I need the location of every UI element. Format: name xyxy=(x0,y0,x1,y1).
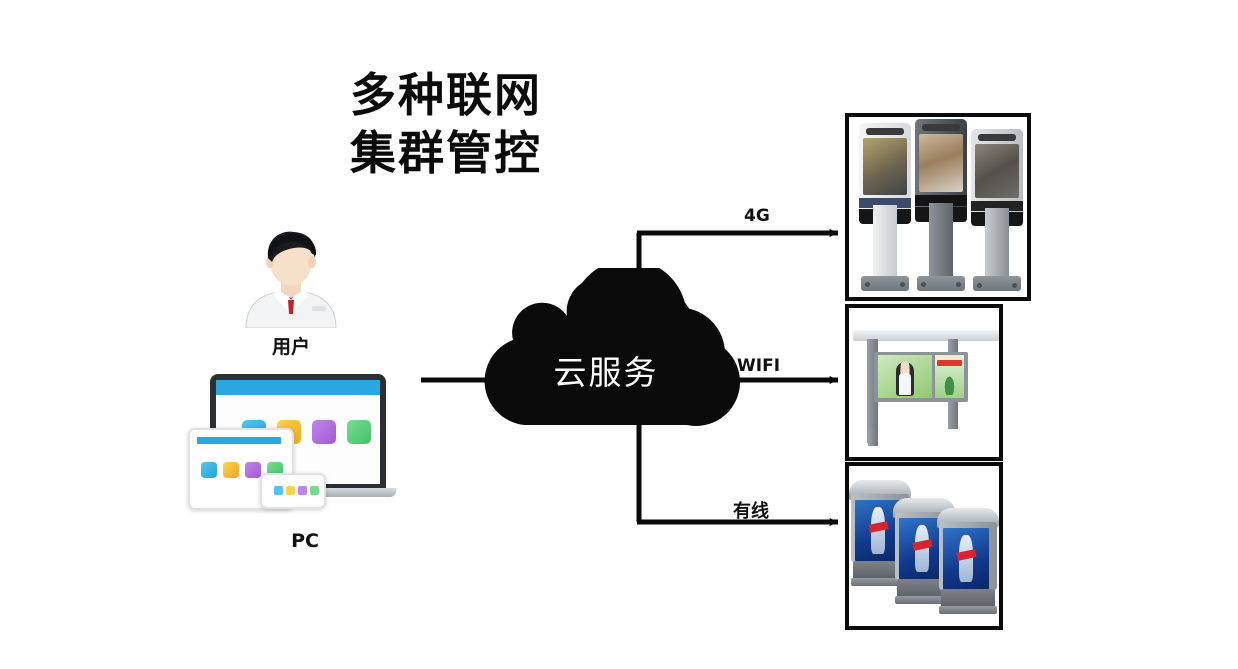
poster-headline xyxy=(937,360,962,366)
tablet-titlebar xyxy=(197,437,281,444)
app-icon-purple-phone xyxy=(298,486,307,495)
terminals-art xyxy=(849,117,1027,297)
lightbox-right-plinth xyxy=(941,589,994,607)
billboard-leg xyxy=(868,428,878,446)
terminal-grey-screen xyxy=(975,144,1019,198)
app-icon-yellow-phone xyxy=(286,486,295,495)
terminal-grey-camera xyxy=(978,134,1015,141)
laptop-titlebar xyxy=(216,380,380,395)
app-icon-yellow-tablet xyxy=(223,462,239,478)
link-label-4g: 4G xyxy=(744,206,770,226)
terminal-dark-base xyxy=(917,276,965,291)
link-label-wired: 有线 xyxy=(733,497,769,523)
device-group-terminals xyxy=(845,113,1031,301)
terminal-white-camera xyxy=(866,128,903,135)
user-label: 用户 xyxy=(228,332,354,359)
laptop-tablet-phone-icon xyxy=(178,372,432,522)
app-icon-green xyxy=(347,420,371,444)
phone-device xyxy=(260,473,326,509)
terminal-dark-pole xyxy=(929,203,954,275)
app-icon-blue-phone xyxy=(274,486,283,495)
billboard-poster xyxy=(935,355,964,398)
terminal-dark xyxy=(915,119,967,291)
user-node: 用户 xyxy=(228,228,354,359)
device-group-billboard xyxy=(845,304,1003,461)
avatar xyxy=(228,228,354,328)
terminal-dark-screen xyxy=(919,134,963,192)
user-avatar-icon xyxy=(228,228,354,328)
cloud-icon xyxy=(470,268,742,450)
lightbox-right-foot xyxy=(939,606,997,614)
cloud-node: 云服务 xyxy=(470,268,742,450)
app-icon-blue-tablet xyxy=(201,462,217,478)
terminal-grey-base xyxy=(973,276,1021,291)
lightbox-right xyxy=(939,508,997,618)
terminal-grey xyxy=(971,129,1023,291)
device-group-lightboxes xyxy=(845,462,1003,630)
link-label-wifi: WIFI xyxy=(737,356,780,376)
terminal-dark-camera xyxy=(922,124,959,131)
pc-node: PC xyxy=(178,372,432,552)
terminal-white-base xyxy=(861,276,909,291)
billboard-screen xyxy=(878,355,932,398)
billboard-portrait-shirt xyxy=(899,373,911,395)
app-icon-purple-tablet xyxy=(245,462,261,478)
poster-tree xyxy=(944,375,955,395)
terminal-white-pole xyxy=(873,205,898,276)
diagram-canvas: 多种联网 集群管控 云服务 4G WIFI 有线 xyxy=(0,0,1238,669)
lightbox-right-poster xyxy=(943,528,989,590)
terminal-white xyxy=(859,123,911,291)
terminal-white-screen xyxy=(863,138,907,194)
billboard-art xyxy=(849,308,999,457)
lightboxes-art xyxy=(849,466,999,626)
terminal-grey-pole xyxy=(985,208,1010,276)
app-icon-purple xyxy=(312,420,336,444)
app-icon-green-phone xyxy=(310,486,319,495)
pc-label: PC xyxy=(178,530,432,552)
